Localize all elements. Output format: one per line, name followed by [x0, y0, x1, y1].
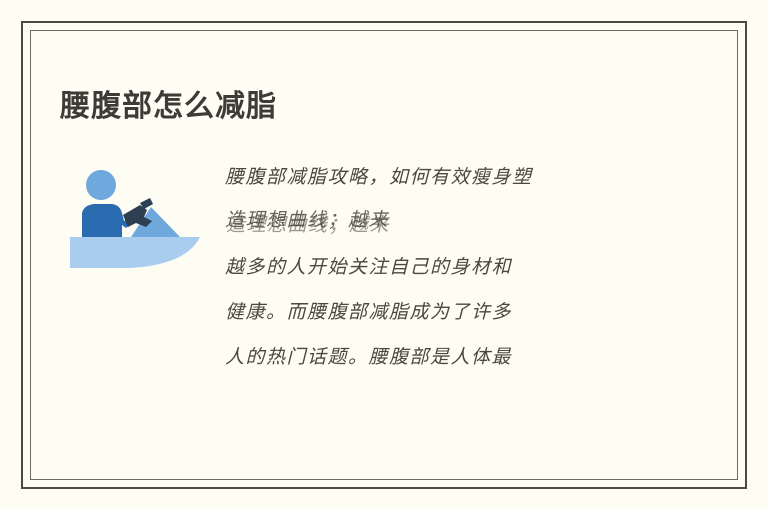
article-line: 腰腹部减脂攻略，如何有效瘦身塑: [225, 155, 665, 200]
article-line: 人的热门话题。腰腹部是人体最: [225, 335, 665, 380]
document-page: 腰腹部怎么减脂 腰腹部减脂攻略，如何有效瘦身塑 造理想曲线；越来 造理想曲线；: [0, 0, 768, 510]
page-title: 腰腹部怎么减脂: [60, 88, 277, 126]
article-body: 腰腹部减脂攻略，如何有效瘦身塑 造理想曲线；越来 造理想曲线；越来 越多的人开始…: [225, 155, 665, 380]
article-line-overprint-b: 造理想曲线；越来: [226, 203, 390, 248]
article-line: 健康。而腰腹部减脂成为了许多: [225, 290, 665, 335]
article-illustration: [68, 165, 210, 273]
page-content: 腰腹部怎么减脂 腰腹部减脂攻略，如何有效瘦身塑 造理想曲线；越来 造理想曲线；: [30, 30, 738, 480]
article-line: 越多的人开始关注自己的身材和: [225, 245, 665, 290]
article-line: 造理想曲线；越来 造理想曲线；越来: [225, 200, 665, 245]
person-with-telescope-icon: [68, 165, 210, 273]
